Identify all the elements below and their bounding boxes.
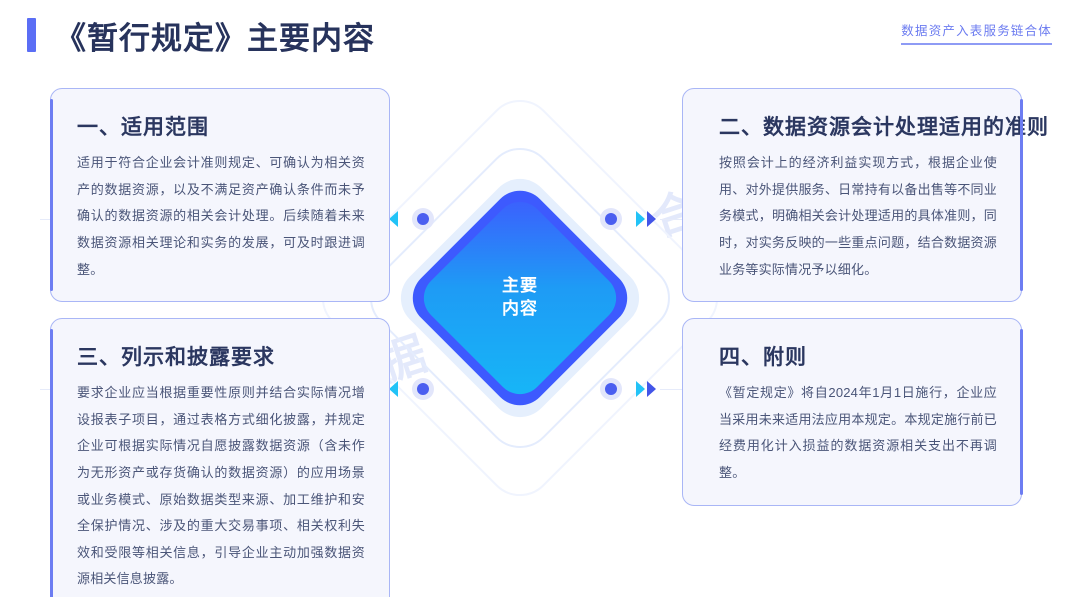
node-dot xyxy=(412,378,434,400)
slide-header: 《暂行规定》主要内容 数据资产入表服务链合体 xyxy=(0,0,1080,72)
card-title: 一、适用范围 xyxy=(77,111,365,141)
brand-underline xyxy=(901,43,1052,45)
card-body: 按照会计上的经济利益实现方式，根据企业使用、对外提供服务、日常持有以备出售等不同… xyxy=(709,150,997,283)
diamond-label-line1: 主要 xyxy=(460,275,580,298)
card-title: 二、数据资源会计处理适用的准则 xyxy=(709,111,997,141)
card-body: 《暂定规定》将自2024年1月1日施行，企业应当采用未来适用法应用本规定。本规定… xyxy=(709,380,997,487)
card-body: 适用于符合企业会计准则规定、可确认为相关资产的数据资源，以及不满足资产确认条件而… xyxy=(77,150,365,283)
diamond-label: 主要 内容 xyxy=(460,275,580,321)
connector-bottom-right xyxy=(600,378,656,400)
node-dot xyxy=(600,378,622,400)
content-card-1: 一、适用范围 适用于符合企业会计准则规定、可确认为相关资产的数据资源，以及不满足… xyxy=(50,88,390,302)
brand-mark: 数据资产入表服务链合体 xyxy=(901,20,1052,45)
chevron-right-icon xyxy=(632,208,656,230)
card-title: 三、列示和披露要求 xyxy=(77,341,365,371)
chevron-right-icon xyxy=(632,378,656,400)
brand-label: 数据资产入表服务链合体 xyxy=(901,20,1052,39)
content-card-2: 二、数据资源会计处理适用的准则 按照会计上的经济利益实现方式，根据企业使用、对外… xyxy=(682,88,1022,302)
page-title: 《暂行规定》主要内容 xyxy=(55,13,375,58)
diamond-label-line2: 内容 xyxy=(460,298,580,321)
slide-canvas: 数据 合体 《暂行规定》主要内容 数据资产入表服务链合体 主要 内容 xyxy=(0,0,1080,597)
title-accent-bar xyxy=(27,18,36,52)
content-card-3: 三、列示和披露要求 要求企业应当根据重要性原则并结合实际情况增设报表子项目，通过… xyxy=(50,318,390,597)
content-card-4: 四、附则 《暂定规定》将自2024年1月1日施行，企业应当采用未来适用法应用本规… xyxy=(682,318,1022,506)
connector-top-right xyxy=(600,208,656,230)
node-dot xyxy=(412,208,434,230)
card-title: 四、附则 xyxy=(709,341,997,371)
node-dot xyxy=(600,208,622,230)
card-body: 要求企业应当根据重要性原则并结合实际情况增设报表子项目，通过表格方式细化披露，并… xyxy=(77,380,365,593)
